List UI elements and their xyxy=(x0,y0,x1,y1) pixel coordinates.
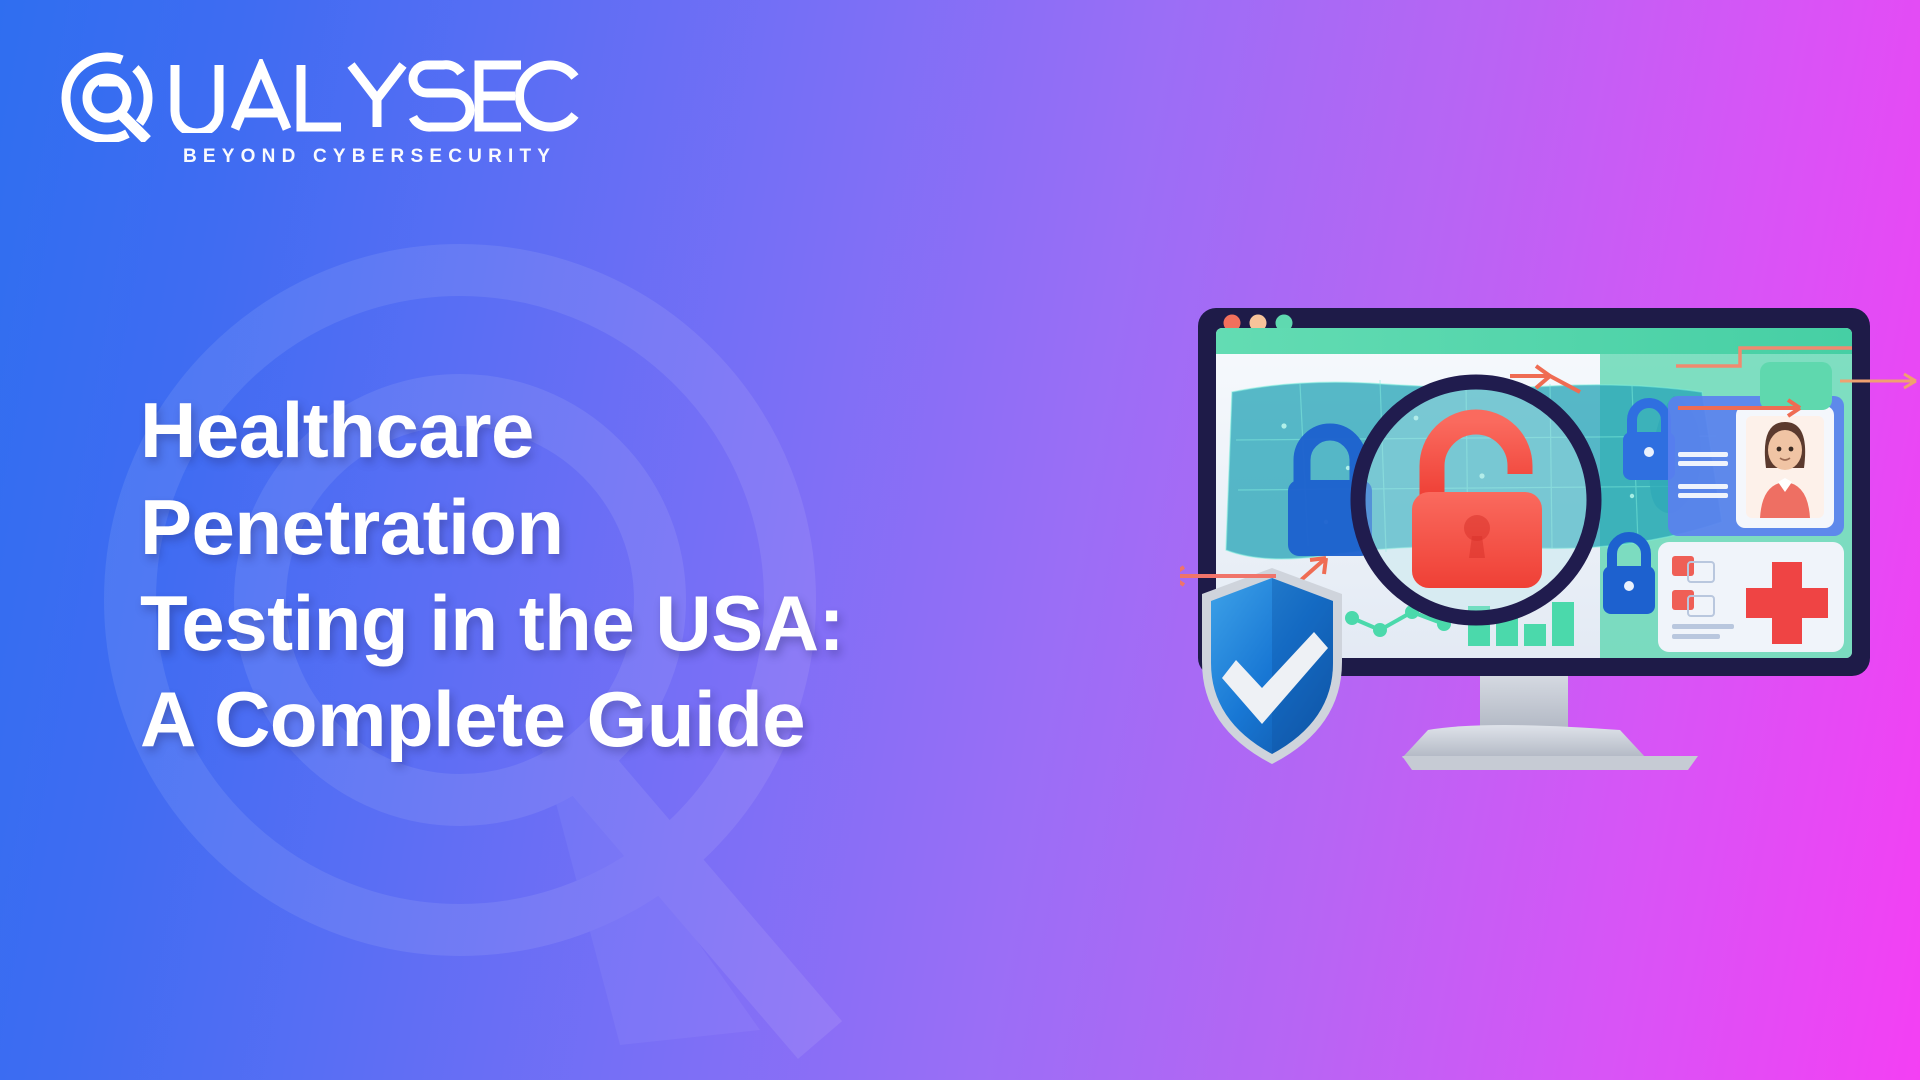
qualysec-wordmark xyxy=(165,59,583,133)
headline-line-3: Testing in the USA: xyxy=(140,575,1120,671)
magnifier-lens xyxy=(1358,382,1594,618)
healthcare-security-monitor-illustration xyxy=(1180,300,1920,820)
security-shield-check-icon xyxy=(1202,568,1342,764)
headline-line-2: Penetration xyxy=(140,479,1120,575)
brand-logo[interactable]: BEYOND CYBERSECURITY xyxy=(55,55,595,168)
page-title: Healthcare Penetration Testing in the US… xyxy=(140,382,1120,767)
patient-avatar xyxy=(1746,416,1824,518)
headline-line-1: Healthcare xyxy=(140,382,1120,478)
brand-tagline: BEYOND CYBERSECURITY xyxy=(183,146,595,168)
poster-canvas: BEYOND CYBERSECURITY Healthcare Penetrat… xyxy=(0,0,1920,1080)
headline-line-4: A Complete Guide xyxy=(140,671,1120,767)
app-titlebar xyxy=(1216,328,1852,354)
qualysec-q-magnifier-logo xyxy=(55,50,159,142)
green-badge xyxy=(1760,362,1832,410)
attack-arrow-right-edge xyxy=(1840,366,1920,396)
patient-record-panel xyxy=(1658,362,1844,652)
monitor-stand xyxy=(1402,660,1698,770)
